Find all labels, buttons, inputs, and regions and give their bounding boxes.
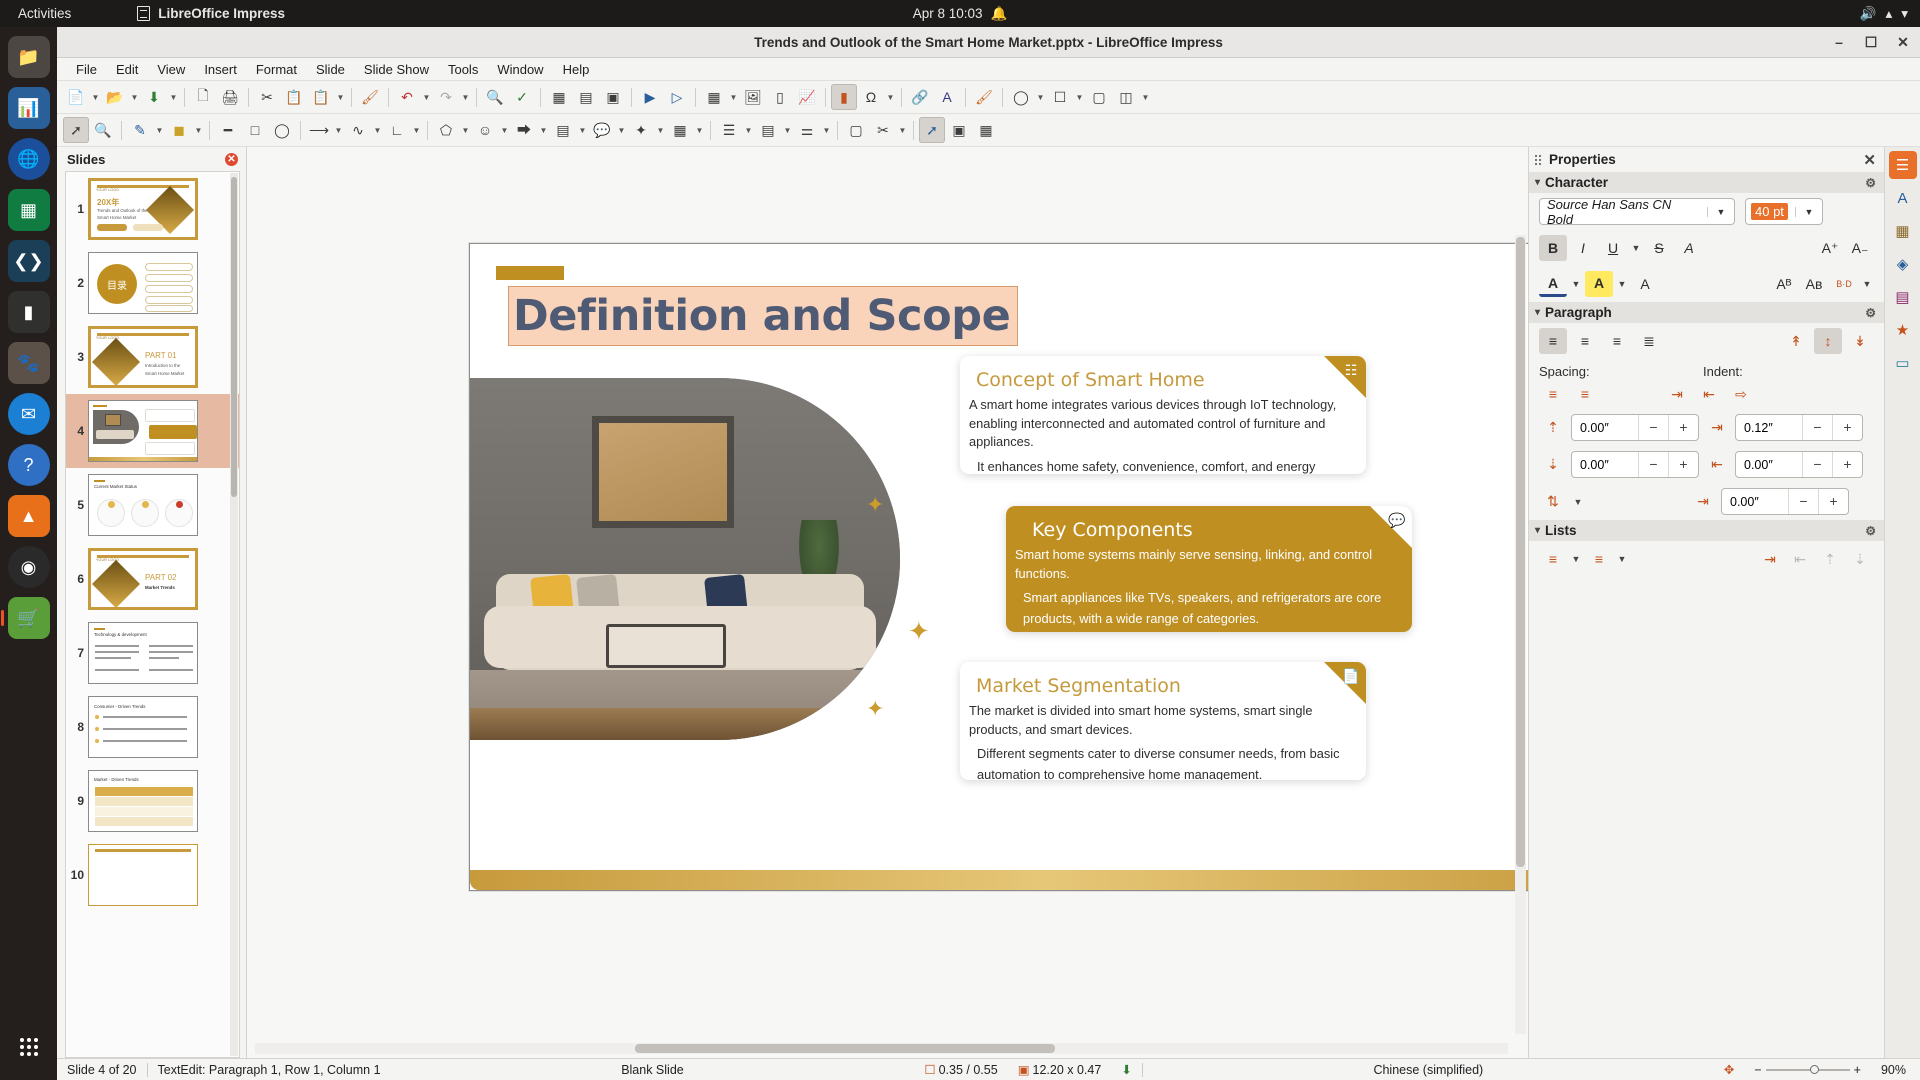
chevron-down-icon[interactable]: ▼: [1707, 207, 1734, 217]
slide-properties-icon[interactable]: ◫: [1113, 84, 1139, 110]
properties-deck: Properties ✕ ▾ Character ⚙ Source Han Sa…: [1529, 147, 1884, 1058]
lists-section-header[interactable]: ▾ Lists ⚙: [1529, 520, 1884, 541]
unordered-list-dropdown-icon[interactable]: ▼: [1569, 554, 1583, 564]
thumb-line2: Smart Home Market: [145, 371, 184, 376]
slide-thumb-3[interactable]: 3 YOUR LOGO PART 01 Introduction to the …: [66, 320, 239, 394]
align-right-button[interactable]: ≡: [1603, 328, 1631, 354]
save-dropdown-arrow[interactable]: ▼: [168, 84, 179, 110]
italic-button[interactable]: I: [1569, 235, 1597, 261]
animation-tab[interactable]: ★: [1889, 316, 1917, 344]
arrange-icon[interactable]: ▤: [755, 117, 781, 143]
unordered-list-button[interactable]: ≡: [1539, 546, 1567, 572]
thumb-logo-label: YOUR LOGO: [96, 188, 119, 192]
slide-thumb-2[interactable]: 2 目录: [66, 246, 239, 320]
zoom-tool-icon[interactable]: 🔍: [90, 117, 116, 143]
undo-dropdown-arrow[interactable]: ▼: [421, 84, 432, 110]
new-presentation-icon[interactable]: 📄: [63, 84, 89, 110]
superscript-button[interactable]: Aᴮ: [1770, 271, 1798, 297]
insert-ellipse-icon[interactable]: ◯: [269, 117, 295, 143]
dock-item-calc[interactable]: ▦: [8, 189, 50, 231]
table-dropdown-arrow[interactable]: ▼: [728, 84, 739, 110]
thumb-line1: Market Trends: [145, 585, 175, 590]
align-objects-icon[interactable]: ☰: [716, 117, 742, 143]
space-above-minus[interactable]: −: [1638, 415, 1668, 440]
photo-floor: [470, 708, 900, 740]
editing-area: Definition and Scope: [247, 147, 1528, 1058]
3d-dropdown-arrow[interactable]: ▼: [694, 117, 705, 143]
slide-number: 1: [68, 202, 84, 216]
slide-thumb-4[interactable]: 4: [66, 394, 239, 468]
dock-item-software[interactable]: 🛒: [8, 597, 50, 639]
indent-after-text-icon: ⇤: [1703, 452, 1731, 478]
insert-curve-icon[interactable]: ∿: [345, 117, 371, 143]
slide-thumb-10[interactable]: 10: [66, 838, 239, 912]
slide-preview: YOUR LOGO PART 02 Market Trends: [88, 548, 198, 610]
slide-layout-info: Blank Slide: [611, 1063, 694, 1077]
panel-grip-icon[interactable]: [1535, 155, 1541, 165]
clear-formatting-button[interactable]: A: [1631, 271, 1659, 297]
menu-view[interactable]: View: [148, 60, 194, 79]
print-icon[interactable]: 🖨: [217, 84, 243, 110]
special-char-dropdown-arrow[interactable]: ▼: [885, 84, 896, 110]
font-color-dropdown-icon[interactable]: ▼: [1569, 279, 1583, 289]
flowchart-dropdown-arrow[interactable]: ▼: [577, 117, 588, 143]
indent-before-plus[interactable]: +: [1832, 415, 1862, 440]
copy-icon[interactable]: 📋: [281, 84, 307, 110]
gear-icon[interactable]: ⚙: [1865, 524, 1876, 538]
ordered-list-button[interactable]: ≡: [1585, 546, 1613, 572]
ordered-list-dropdown-icon[interactable]: ▼: [1615, 554, 1629, 564]
lists-section-label: Lists: [1545, 523, 1577, 538]
card-body-1: Smart home systems mainly serve sensing,…: [1015, 546, 1394, 583]
slide-preview: Market - Driven Trends: [88, 770, 198, 832]
save-status-icon[interactable]: ⬇: [1111, 1062, 1141, 1077]
space-above-plus[interactable]: +: [1668, 415, 1698, 440]
sparkle-icon-2: ✦: [908, 616, 930, 647]
gnome-top-bar: Activities LibreOffice Impress Apr 8 10:…: [0, 0, 1920, 27]
space-below-value: 0.00″: [1572, 458, 1638, 472]
menu-window[interactable]: Window: [488, 60, 552, 79]
indent-after-stepper[interactable]: 0.00″ − +: [1735, 451, 1863, 478]
dock-item-impress[interactable]: 📊: [8, 87, 50, 129]
distribute-icon[interactable]: ⚌: [794, 117, 820, 143]
zoom-slider-knob[interactable]: [1810, 1065, 1819, 1074]
insert-textbox-icon[interactable]: ▯: [767, 84, 793, 110]
hanging-indent-icon[interactable]: ⇨: [1727, 381, 1755, 407]
fit-slide-icon[interactable]: ✥: [1714, 1062, 1744, 1077]
character-section-header[interactable]: ▾ Character ⚙: [1529, 172, 1884, 193]
menu-help[interactable]: Help: [554, 60, 599, 79]
stars-dropdown-arrow[interactable]: ▼: [655, 117, 666, 143]
cursor-position: 0.35 / 0.55: [939, 1063, 1008, 1077]
master-slides-tab[interactable]: ▤: [1889, 283, 1917, 311]
indent-before-value: 0.12″: [1736, 421, 1802, 435]
card-key-components[interactable]: 💬 Key Components Smart home systems main…: [1006, 506, 1412, 632]
insert-table-icon[interactable]: ▦: [701, 84, 727, 110]
bold-button[interactable]: B: [1539, 235, 1567, 261]
slide-preview: Technology & development: [88, 622, 198, 684]
connector-dropdown-arrow[interactable]: ▼: [411, 117, 422, 143]
thumb-heading: Current Market Status: [94, 484, 137, 489]
card-pointer-tail: [1006, 542, 1007, 576]
callout-shapes-icon[interactable]: 💬: [589, 117, 615, 143]
new-slide-icon[interactable]: ☐: [1047, 84, 1073, 110]
stars-banners-icon[interactable]: ✦: [628, 117, 654, 143]
card-market-segmentation[interactable]: 📄 Market Segmentation The market is divi…: [960, 662, 1366, 780]
symbol-shapes-dropdown-arrow[interactable]: ▼: [499, 117, 510, 143]
align-center-vertically-button[interactable]: ↕: [1814, 328, 1842, 354]
system-tray[interactable]: 🔊 ▴ ▾: [1860, 6, 1908, 22]
master-slide-icon[interactable]: ▣: [600, 84, 626, 110]
cut-icon[interactable]: ✂: [254, 84, 280, 110]
menu-format[interactable]: Format: [247, 60, 306, 79]
align-justified-button[interactable]: ≣: [1635, 328, 1663, 354]
first-line-indent-stepper[interactable]: 0.00″ − +: [1721, 488, 1849, 515]
decrease-font-size-button[interactable]: A₋: [1846, 235, 1874, 261]
zoom-out-button[interactable]: −: [1754, 1063, 1761, 1077]
canvas-horizontal-scrollbar[interactable]: [255, 1043, 1508, 1054]
clone-formatting-icon[interactable]: 🖌: [357, 84, 383, 110]
chevron-down-icon[interactable]: ▾: [1535, 525, 1540, 536]
slide-preview: [88, 400, 198, 462]
font-name-combobox[interactable]: Source Han Sans CN Bold ▼: [1539, 198, 1735, 225]
new-slide-dropdown-arrow[interactable]: ▼: [1074, 84, 1085, 110]
underline-button[interactable]: U: [1599, 235, 1627, 261]
increase-paragraph-spacing-icon[interactable]: ≡: [1539, 381, 1567, 407]
open-file-icon[interactable]: 📂: [102, 84, 128, 110]
indent-before-text-icon: ⇥: [1703, 415, 1731, 441]
slide-number: 8: [68, 720, 84, 734]
network-icon: ▴: [1885, 6, 1892, 22]
zoom-slider[interactable]: − +: [1744, 1063, 1871, 1077]
properties-title: Properties: [1549, 152, 1616, 167]
space-below-paragraph-icon: ⇣: [1539, 452, 1567, 478]
insert-hyperlink-icon[interactable]: 🔗: [907, 84, 933, 110]
slide-canvas[interactable]: Definition and Scope: [469, 243, 1528, 891]
zoom-in-button[interactable]: +: [1854, 1063, 1861, 1077]
insert-special-character-icon[interactable]: Ω: [858, 84, 884, 110]
thumb-line1: Trends and Outlook of the: [97, 208, 148, 213]
card-heading: Key Components: [1032, 519, 1412, 541]
display-grid-icon[interactable]: ▦: [546, 84, 572, 110]
ubuntu-dock: 📁 📊 🌐 ▦ ❮❯ ▮ 🐾 ✉ ? ▲ ◉ 🛒: [0, 27, 57, 1080]
export-pdf-icon[interactable]: 🗋: [190, 84, 216, 110]
slide-thumb-8[interactable]: 8 Consumer - Driven Trends: [66, 690, 239, 764]
slide-props-dropdown-arrow[interactable]: ▼: [1140, 84, 1151, 110]
dock-item-obs[interactable]: ◉: [8, 546, 50, 588]
indent-after-value: 0.00″: [1736, 458, 1802, 472]
chat-list-icon: 💬: [1388, 511, 1406, 529]
styles-tab[interactable]: A: [1889, 184, 1917, 212]
libreoffice-impress-window: Trends and Outlook of the Smart Home Mar…: [57, 27, 1920, 1080]
character-format-row: B I U ▼ S A A⁺ A₋: [1529, 230, 1884, 266]
arrow-dropdown-arrow[interactable]: ▼: [333, 117, 344, 143]
insert-rectangle-icon[interactable]: □: [242, 117, 268, 143]
photo-picture-frame: [592, 416, 734, 528]
slide-preview: Consumer - Driven Trends: [88, 696, 198, 758]
slide-number: 6: [68, 572, 84, 586]
language-status[interactable]: Chinese (simplified): [1363, 1063, 1493, 1077]
character-color-row: A ▼ A ▼ A Aᴮ Aʙ B·D ▼: [1529, 266, 1884, 302]
clock[interactable]: Apr 8 10:03 🔔: [913, 6, 1008, 22]
first-line-minus[interactable]: −: [1788, 489, 1818, 514]
indent-before-stepper[interactable]: 0.12″ − +: [1735, 414, 1863, 441]
align-left-button[interactable]: ≡: [1539, 328, 1567, 354]
app-grid-icon: [20, 1038, 38, 1056]
demote-button[interactable]: ⇥: [1756, 546, 1784, 572]
title-textbox[interactable]: Definition and Scope: [508, 286, 1018, 346]
dock-item-gimp[interactable]: 🐾: [8, 342, 50, 384]
slide-thumb-7[interactable]: 7 Technology & development: [66, 616, 239, 690]
insert-connector-icon[interactable]: ∟: [384, 117, 410, 143]
spelling-icon[interactable]: ✓: [509, 84, 535, 110]
menu-tools[interactable]: Tools: [439, 60, 487, 79]
properties-header: Properties ✕: [1529, 147, 1884, 172]
volume-icon: 🔊: [1860, 6, 1877, 22]
thumb-line2: Smart Home Market: [97, 215, 136, 220]
insert-fontwork-icon[interactable]: A: [934, 84, 960, 110]
toggle-extrusion-icon[interactable]: ▦: [973, 117, 999, 143]
zoom-level[interactable]: 90%: [1871, 1063, 1920, 1077]
notification-bell-icon: 🔔: [991, 6, 1008, 22]
dock-item-vscode[interactable]: ❮❯: [8, 240, 50, 282]
menu-file[interactable]: File: [67, 60, 106, 79]
font-size-value: 40 pt: [1751, 203, 1788, 220]
slide-thumb-9[interactable]: 9 Market - Driven Trends: [66, 764, 239, 838]
gear-icon[interactable]: ⚙: [1865, 176, 1876, 190]
align-top-button[interactable]: ↟: [1782, 328, 1810, 354]
show-draw-functions-icon[interactable]: 🖌: [971, 84, 997, 110]
3d-objects-icon[interactable]: ▦: [667, 117, 693, 143]
space-below-plus[interactable]: +: [1668, 452, 1698, 477]
window-minimize-button[interactable]: –: [1830, 34, 1848, 51]
slide-layout-icon[interactable]: ▢: [1086, 84, 1112, 110]
slide-thumb-5[interactable]: 5 Current Market Status: [66, 468, 239, 542]
sidebar-close-icon[interactable]: ✕: [1863, 151, 1876, 169]
slides-panel-title: Slides: [67, 152, 105, 167]
zoom-slider-track[interactable]: [1766, 1069, 1850, 1071]
slides-panel: Slides ✕ 1 YOUR LOGO 20X年 Trends and Out…: [57, 147, 247, 1058]
space-below-indent-after-row: ⇣ 0.00″ − + ⇤ 0.00″ − +: [1529, 446, 1884, 483]
space-above-paragraph-icon: ⇡: [1539, 415, 1567, 441]
insert-shape-icon[interactable]: ◯: [1008, 84, 1034, 110]
first-line-plus[interactable]: +: [1818, 489, 1848, 514]
alignment-row: ≡ ≡ ≡ ≣ ↟ ↕ ↡: [1529, 323, 1884, 359]
sidebar-deck-tabs: ☰ A ▦ ◈ ▤ ★ ▭: [1884, 147, 1920, 1058]
activities-button[interactable]: Activities: [18, 6, 71, 21]
active-app-indicator[interactable]: LibreOffice Impress: [137, 6, 285, 21]
dock-item-thunderbird[interactable]: ✉: [8, 393, 50, 435]
power-icon: ▾: [1901, 6, 1908, 22]
chevron-down-icon[interactable]: ▾: [1535, 177, 1540, 188]
insert-arrow-icon[interactable]: ⟶: [306, 117, 332, 143]
gallery-tab[interactable]: ▦: [1889, 217, 1917, 245]
align-bottom-button[interactable]: ↡: [1846, 328, 1874, 354]
character-spacing-button[interactable]: B·D: [1830, 271, 1858, 297]
undo-icon[interactable]: ↶: [394, 84, 420, 110]
slide-footer-bar: [470, 870, 1528, 890]
indent-after-minus[interactable]: −: [1802, 452, 1832, 477]
find-replace-icon[interactable]: 🔍: [482, 84, 508, 110]
crop-dropdown-arrow[interactable]: ▼: [897, 117, 908, 143]
space-above-stepper[interactable]: 0.00″ − +: [1571, 414, 1699, 441]
sparkle-icon-3: ✦: [866, 696, 884, 722]
decrease-paragraph-spacing-icon[interactable]: ≡: [1571, 381, 1599, 407]
menu-insert[interactable]: Insert: [195, 60, 246, 79]
thumb-part-label: PART 02: [145, 573, 177, 582]
slides-panel-header: Slides ✕: [57, 147, 246, 171]
properties-tab[interactable]: ☰: [1889, 151, 1917, 179]
slide-number: 7: [68, 646, 84, 660]
crop-image-icon[interactable]: ✂: [870, 117, 896, 143]
increase-indent-icon[interactable]: ⇥: [1663, 381, 1691, 407]
slides-list[interactable]: 1 YOUR LOGO 20X年 Trends and Outlook of t…: [65, 171, 240, 1058]
active-app-label: LibreOffice Impress: [158, 6, 285, 21]
window-maximize-button[interactable]: ☐: [1862, 34, 1880, 51]
dock-item-terminal[interactable]: ▮: [8, 291, 50, 333]
dock-item-firefox[interactable]: 🌐: [8, 138, 50, 180]
flowchart-icon[interactable]: ▤: [550, 117, 576, 143]
symbol-shapes-icon[interactable]: ☺: [472, 117, 498, 143]
dock-item-vlc[interactable]: ▲: [8, 495, 50, 537]
gear-icon[interactable]: ⚙: [1865, 306, 1876, 320]
menu-slide[interactable]: Slide: [307, 60, 354, 79]
document-icon: 📄: [1342, 667, 1360, 685]
move-down-button[interactable]: ⇣: [1846, 546, 1874, 572]
subscript-button[interactable]: Aʙ: [1800, 271, 1828, 297]
font-size-combobox[interactable]: 40 pt ▼: [1745, 198, 1823, 225]
thumb-heading: Technology & development: [94, 632, 147, 637]
space-above-indent-before-row: ⇡ 0.00″ − + ⇥ 0.12″ − +: [1529, 409, 1884, 446]
card-body-2: Smart appliances like TVs, speakers, and…: [1023, 588, 1394, 629]
canvas-vertical-scrollbar[interactable]: [1515, 235, 1526, 1034]
strikethrough-button[interactable]: S: [1645, 235, 1673, 261]
slide-thumb-1[interactable]: 1 YOUR LOGO 20X年 Trends and Outlook of t…: [66, 172, 239, 246]
status-bar: Slide 4 of 20 TextEdit: Paragraph 1, Row…: [57, 1058, 1920, 1080]
window-close-button[interactable]: ✕: [1894, 34, 1912, 51]
points-edit-icon[interactable]: ➚: [919, 117, 945, 143]
display-views-icon[interactable]: ▤: [573, 84, 599, 110]
dock-item-help[interactable]: ?: [8, 444, 50, 486]
slide-thumb-6[interactable]: 6 YOUR LOGO PART 02 Market Trends: [66, 542, 239, 616]
align-center-button[interactable]: ≡: [1571, 328, 1599, 354]
paste-icon[interactable]: 📋: [308, 84, 334, 110]
insert-chart-icon[interactable]: 📈: [794, 84, 820, 110]
callout-dropdown-arrow[interactable]: ▼: [616, 117, 627, 143]
basic-shapes-icon[interactable]: ⬠: [433, 117, 459, 143]
distribute-dropdown-arrow[interactable]: ▼: [821, 117, 832, 143]
insert-image-icon[interactable]: 🖼: [740, 84, 766, 110]
space-below-minus[interactable]: −: [1638, 452, 1668, 477]
insert-text-box-active-icon[interactable]: ▮: [831, 84, 857, 110]
canvas-wrapper[interactable]: Definition and Scope: [247, 147, 1528, 1058]
slide-preview: YOUR LOGO 20X年 Trends and Outlook of the…: [88, 178, 198, 240]
object-size: 12.20 x 0.47: [1033, 1063, 1112, 1077]
indent-after-plus[interactable]: +: [1832, 452, 1862, 477]
promote-button[interactable]: ⇤: [1786, 546, 1814, 572]
arrange-dropdown-arrow[interactable]: ▼: [782, 117, 793, 143]
highlight-color-dropdown-icon[interactable]: ▼: [1615, 279, 1629, 289]
space-below-stepper[interactable]: 0.00″ − +: [1571, 451, 1699, 478]
line-spacing-icon[interactable]: ⇅: [1539, 489, 1567, 515]
shadow-button[interactable]: A: [1675, 235, 1703, 261]
slide-number: 2: [68, 276, 84, 290]
align-dropdown-arrow[interactable]: ▼: [743, 117, 754, 143]
paragraph-section-header[interactable]: ▾ Paragraph ⚙: [1529, 302, 1884, 323]
shape-dropdown-arrow[interactable]: ▼: [1035, 84, 1046, 110]
navigator-tab[interactable]: ◈: [1889, 250, 1917, 278]
paste-dropdown-arrow[interactable]: ▼: [335, 84, 346, 110]
font-color-button[interactable]: A: [1539, 271, 1567, 297]
card-body-1: The market is divided into smart home sy…: [969, 702, 1348, 739]
character-spacing-dropdown-icon[interactable]: ▼: [1860, 279, 1874, 289]
spacing-indent-labels: Spacing: Indent:: [1529, 359, 1884, 381]
start-from-first-slide-icon[interactable]: ▶: [637, 84, 663, 110]
work-area: Slides ✕ 1 YOUR LOGO 20X年 Trends and Out…: [57, 147, 1920, 1058]
card-concept-of-smart-home[interactable]: ☷ Concept of Smart Home A smart home int…: [960, 356, 1366, 474]
slide-number: 9: [68, 794, 84, 808]
block-arrows-dropdown-arrow[interactable]: ▼: [538, 117, 549, 143]
highlight-color-button[interactable]: A: [1585, 271, 1613, 297]
line-spacing-firstline-row: ⇅ ▼ ⇥ 0.00″ − +: [1529, 483, 1884, 520]
card-heading: Concept of Smart Home: [976, 369, 1366, 391]
new-dropdown-arrow[interactable]: ▼: [90, 84, 101, 110]
redo-dropdown-arrow[interactable]: ▼: [460, 84, 471, 110]
decrease-indent-icon[interactable]: ⇤: [1695, 381, 1723, 407]
slides-panel-scrollbar[interactable]: [230, 173, 238, 1056]
menu-slide-show[interactable]: Slide Show: [355, 60, 438, 79]
space-above-value: 0.00″: [1572, 421, 1638, 435]
shapes-tab[interactable]: ▭: [1889, 349, 1917, 377]
chevron-down-icon[interactable]: ▾: [1535, 307, 1540, 318]
shadow-icon[interactable]: ▢: [843, 117, 869, 143]
increase-font-size-button[interactable]: A⁺: [1816, 235, 1844, 261]
slide-accent-bar: [496, 266, 564, 280]
character-section-label: Character: [1545, 175, 1608, 190]
move-up-button[interactable]: ⇡: [1816, 546, 1844, 572]
text-edit-info: TextEdit: Paragraph 1, Row 1, Column 1: [148, 1063, 391, 1077]
underline-dropdown-icon[interactable]: ▼: [1629, 243, 1643, 253]
save-icon[interactable]: ⬇: [141, 84, 167, 110]
window-titlebar: Trends and Outlook of the Smart Home Mar…: [57, 27, 1920, 58]
fill-color-dropdown-arrow[interactable]: ▼: [193, 117, 204, 143]
indent-before-minus[interactable]: −: [1802, 415, 1832, 440]
card-heading: Market Segmentation: [976, 675, 1366, 697]
show-applications-button[interactable]: [8, 1026, 50, 1068]
basic-shapes-dropdown-arrow[interactable]: ▼: [460, 117, 471, 143]
start-from-current-slide-icon[interactable]: ▷: [664, 84, 690, 110]
insert-line-icon[interactable]: ━: [215, 117, 241, 143]
glue-points-icon[interactable]: ▣: [946, 117, 972, 143]
menu-edit[interactable]: Edit: [107, 60, 147, 79]
line-color-dropdown-arrow[interactable]: ▼: [154, 117, 165, 143]
device-hub-icon: ☷: [1342, 361, 1360, 379]
slide-title-text: Definition and Scope: [513, 291, 1010, 341]
curve-dropdown-arrow[interactable]: ▼: [372, 117, 383, 143]
slides-panel-close-icon[interactable]: ✕: [225, 153, 238, 166]
line-color-icon[interactable]: ✎: [127, 117, 153, 143]
redo-icon[interactable]: ↷: [433, 84, 459, 110]
lists-row: ≡ ▼ ≡ ▼ ⇥ ⇤ ⇡ ⇣: [1529, 541, 1884, 577]
dock-item-files[interactable]: 📁: [8, 36, 50, 78]
slide-photo[interactable]: [470, 378, 900, 740]
chevron-down-icon[interactable]: ▼: [1795, 207, 1822, 217]
open-dropdown-arrow[interactable]: ▼: [129, 84, 140, 110]
select-tool-icon[interactable]: ➚: [63, 117, 89, 143]
block-arrows-icon[interactable]: ⮕: [511, 117, 537, 143]
line-spacing-dropdown-icon[interactable]: ▼: [1571, 497, 1585, 507]
fill-color-icon[interactable]: ◼: [166, 117, 192, 143]
